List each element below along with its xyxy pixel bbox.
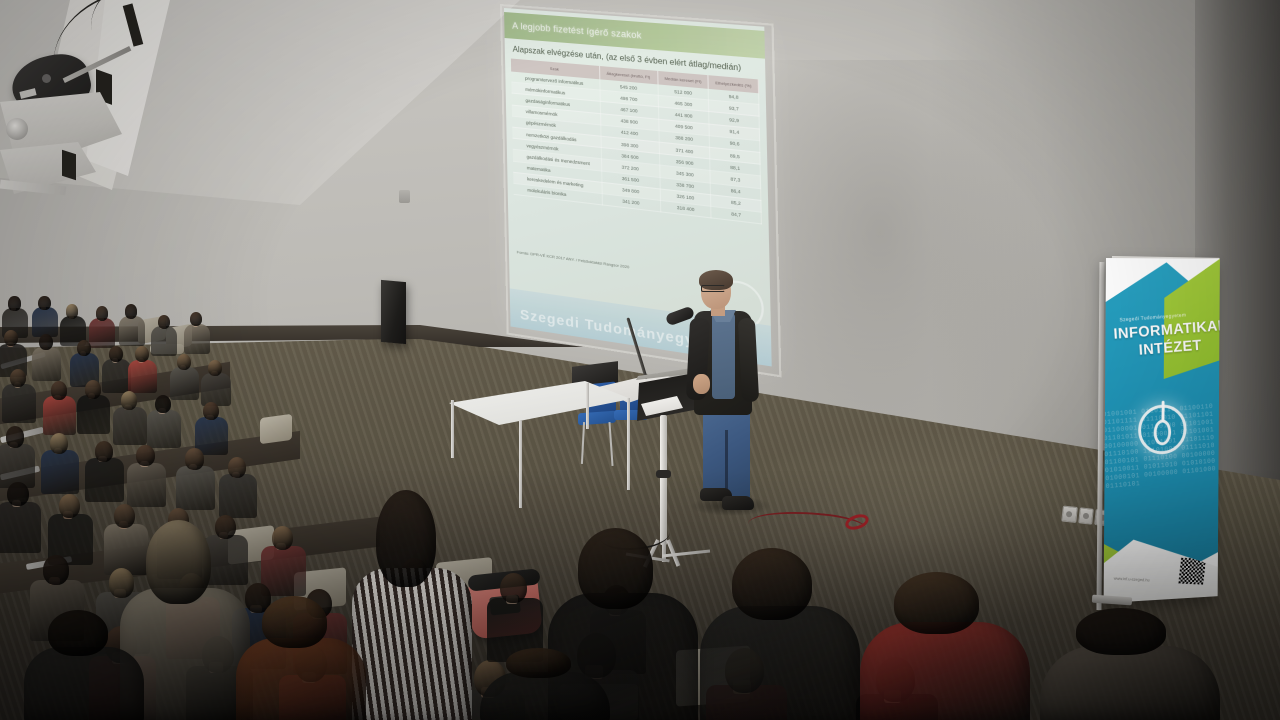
audience-member-head — [59, 494, 80, 518]
audience-member-head — [272, 526, 293, 550]
audience-member-front — [700, 548, 860, 720]
audience-member-front — [236, 596, 366, 720]
lecture-hall-photo: A legjobb fizetést ígérő szakok Alapszak… — [0, 0, 1280, 720]
audience-member-body — [176, 466, 215, 510]
audience-member-head — [43, 555, 69, 584]
audience-member-head — [125, 304, 137, 318]
audience-member-body — [41, 450, 80, 494]
empty-chair — [260, 414, 292, 444]
audience-member-head — [146, 520, 211, 604]
audience-member — [127, 445, 166, 510]
audience-member-body — [2, 384, 36, 422]
audience-member — [119, 304, 145, 348]
banner-url: www.inf.u-szeged.hu — [1113, 576, 1149, 583]
audience-member — [219, 457, 258, 522]
audience-member-head — [51, 381, 67, 399]
audience-member-head — [38, 296, 50, 310]
qr-code-icon — [1178, 558, 1205, 585]
audience-member — [147, 395, 181, 452]
audience-member-head — [95, 441, 113, 462]
audience-member-body — [119, 316, 145, 346]
audience-member-head — [228, 457, 246, 478]
audience-member-head — [155, 395, 171, 413]
audience-member-head — [8, 296, 20, 310]
audience-member-head — [376, 490, 436, 587]
audience-member-striped — [352, 490, 472, 720]
audience-member-head — [185, 448, 203, 469]
table-leg — [519, 420, 522, 508]
audience-member-body — [860, 622, 1030, 720]
audience-member-body — [128, 360, 157, 394]
audience-member-head — [77, 340, 91, 356]
power-button-logo-inner — [1154, 419, 1172, 445]
audience-member-body — [32, 307, 58, 337]
audience-member-head — [732, 548, 812, 620]
audience-member-head — [894, 572, 979, 634]
presenter-shoe-right — [722, 496, 754, 510]
presenter-hand — [693, 374, 710, 394]
audience-member-body — [1040, 646, 1220, 720]
slide-data-table: Szak Átlagkereset (bruttó, Ft) Medián ke… — [511, 58, 762, 224]
audience-member-head — [500, 573, 527, 604]
slide-title: A legjobb fizetést ígérő szakok — [512, 21, 642, 41]
audience-member-body — [113, 407, 147, 445]
audience-member-head — [1076, 608, 1166, 655]
slide-source-note: Forrás: DPR-VÉ KCR 2017 ANY. / Felsőokta… — [517, 249, 724, 283]
floor-standing-speaker — [381, 280, 406, 344]
audience-member-body — [700, 606, 860, 720]
audience-member-head — [39, 334, 53, 350]
audience-member-head — [203, 402, 219, 420]
audience-member — [2, 369, 36, 426]
audience-member-body — [480, 672, 610, 720]
presenter-shirt — [712, 313, 735, 399]
audience-member — [41, 433, 80, 498]
audience-member-body — [184, 324, 210, 354]
audience-member — [77, 380, 111, 437]
audience-member — [128, 346, 157, 396]
audience-member-head — [85, 380, 101, 398]
audience-member-body — [43, 396, 77, 434]
audience-member-head — [177, 354, 191, 370]
slide-table-body: programtervező informatikus545 200512 00… — [511, 72, 761, 224]
audience-member-body — [77, 395, 111, 433]
audience-member — [0, 482, 41, 557]
wall-sensor-icon — [399, 190, 410, 203]
rollup-banner: 01001001 01101110 01100110 01101111 0111… — [1104, 258, 1220, 603]
audience-member-body — [147, 410, 181, 448]
audience-member-head — [50, 433, 68, 454]
audience-member-front — [480, 648, 610, 720]
audience-member-body — [219, 474, 258, 518]
audience-member — [43, 381, 77, 438]
table-leg — [586, 383, 589, 429]
audience-member — [176, 448, 215, 513]
audience-member-body — [0, 502, 41, 553]
audience-member-head — [506, 648, 571, 678]
table-leg — [451, 400, 454, 458]
audience-member-front — [24, 610, 144, 720]
lectern-height-knob — [656, 470, 671, 478]
audience-member-head — [7, 482, 28, 506]
table-leg — [627, 398, 630, 490]
audience-member-head — [121, 391, 137, 409]
audience-member — [184, 312, 210, 356]
audience-member-head — [578, 528, 653, 609]
power-outlet-icon — [1061, 506, 1077, 523]
audience-member-head — [48, 610, 108, 656]
audience-member-body — [24, 647, 144, 720]
audience-member-head — [262, 596, 327, 648]
projector-mount — [62, 150, 76, 181]
ceiling-speaker-mount — [42, 74, 51, 83]
audience-member-body — [236, 638, 366, 720]
audience-member-head — [135, 346, 149, 362]
projector-lens — [6, 118, 28, 140]
audience-member-head — [96, 306, 108, 320]
audience-member-head — [109, 346, 123, 362]
audience-member-head — [158, 315, 170, 329]
glasses-icon — [701, 285, 725, 292]
power-outlet-icon — [1078, 507, 1094, 524]
audience-member-front — [860, 572, 1030, 720]
audience-member-body — [352, 568, 472, 720]
audience-member-body — [127, 463, 166, 507]
audience-member-head — [66, 304, 78, 318]
audience-member-head — [208, 360, 222, 376]
audience-member-front — [1040, 608, 1220, 720]
audience-member-head — [6, 426, 24, 447]
audience-member-head — [136, 445, 154, 466]
